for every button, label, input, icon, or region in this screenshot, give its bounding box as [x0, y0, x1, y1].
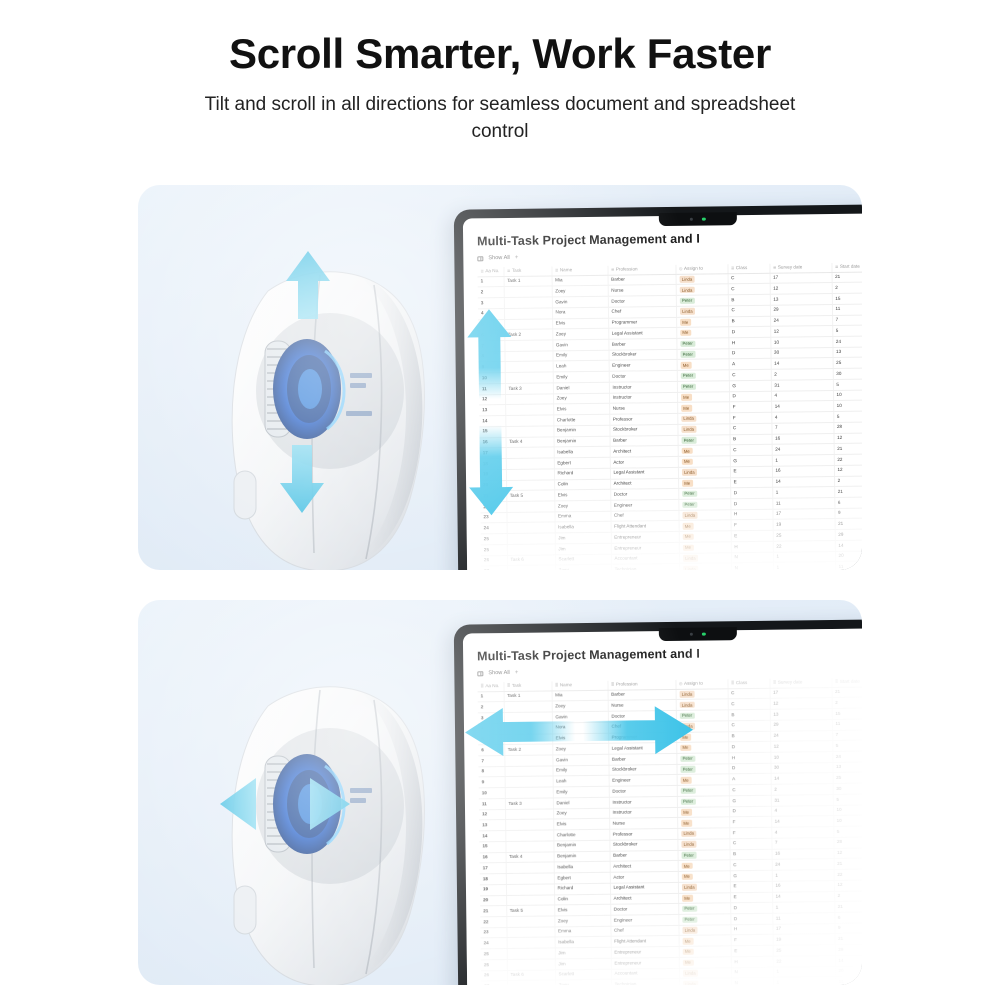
cell-profession[interactable]: Accountant: [611, 553, 679, 565]
cell-name[interactable]: Isabella: [555, 937, 611, 948]
cell-survey[interactable]: 30: [770, 762, 832, 773]
cell-survey[interactable]: 11: [772, 913, 834, 924]
cell-name[interactable]: Zoey: [553, 808, 609, 819]
cell-name[interactable]: Zoey: [552, 286, 608, 297]
cell-start[interactable]: 30: [833, 783, 862, 794]
cell-assign[interactable]: Peter: [676, 764, 728, 775]
cell-no[interactable]: 10: [479, 373, 505, 384]
cell-task[interactable]: [504, 766, 552, 777]
cell-no[interactable]: 23: [480, 927, 506, 938]
cell-profession[interactable]: Doctor: [609, 786, 677, 798]
cell-name[interactable]: Jim: [555, 947, 611, 958]
cell-no[interactable]: 3: [478, 713, 504, 724]
cell-assign[interactable]: Linda: [679, 967, 731, 978]
cell-name[interactable]: Emily: [553, 371, 609, 382]
cell-class[interactable]: B: [728, 294, 770, 305]
cell-class[interactable]: D: [729, 806, 771, 817]
cell-class[interactable]: N: [731, 552, 773, 563]
cell-task[interactable]: Task 6: [507, 555, 555, 566]
cell-task[interactable]: [505, 809, 553, 820]
cell-task[interactable]: [507, 948, 555, 959]
cell-survey[interactable]: 11: [772, 498, 834, 509]
cell-profession[interactable]: Entrepreneur: [611, 947, 679, 959]
cell-class[interactable]: B: [728, 709, 770, 720]
cell-name[interactable]: Elvis: [553, 404, 609, 415]
cell-start[interactable]: 22: [834, 454, 862, 465]
cell-survey[interactable]: 1: [772, 870, 834, 881]
cell-task[interactable]: [505, 426, 553, 437]
cell-survey[interactable]: 4: [771, 827, 833, 838]
cell-profession[interactable]: Architect: [610, 478, 678, 490]
cell-class[interactable]: C: [728, 699, 770, 710]
cell-survey[interactable]: 1: [772, 902, 834, 913]
cell-no[interactable]: 23: [480, 512, 506, 523]
view-label[interactable]: Show All: [488, 255, 510, 261]
cell-name[interactable]: Gavin: [552, 339, 608, 350]
cell-no[interactable]: 6: [478, 330, 504, 341]
cell-class[interactable]: C: [730, 860, 772, 871]
cell-no[interactable]: 8: [478, 766, 504, 777]
cell-no[interactable]: 6: [478, 745, 504, 756]
cell-profession[interactable]: Entrepreneur: [611, 542, 679, 554]
cell-profession[interactable]: Architect: [610, 893, 678, 905]
cell-class[interactable]: F: [731, 520, 773, 531]
cell-assign[interactable]: Linda: [677, 413, 729, 424]
cell-profession[interactable]: Chef: [608, 306, 676, 318]
column-header-aa-no[interactable]: ≣Aa No.: [477, 682, 503, 691]
cell-class[interactable]: E: [730, 466, 772, 477]
cell-profession[interactable]: Entrepreneur: [611, 532, 679, 544]
cell-start[interactable]: 21: [834, 486, 862, 497]
cell-class[interactable]: E: [730, 477, 772, 488]
cell-survey[interactable]: 16: [772, 848, 834, 859]
cell-class[interactable]: C: [729, 784, 771, 795]
cell-assign[interactable]: Me: [676, 742, 728, 753]
cell-profession[interactable]: Technician: [611, 979, 679, 985]
cell-name[interactable]: Nora: [552, 722, 608, 733]
cell-name[interactable]: Benjamin: [553, 425, 609, 436]
cell-name[interactable]: Zoey: [554, 500, 610, 511]
cell-task[interactable]: [507, 533, 555, 544]
cell-start[interactable]: 20: [835, 965, 862, 976]
cell-class[interactable]: N: [731, 563, 773, 570]
cell-start[interactable]: 7: [832, 314, 862, 325]
cell-survey[interactable]: 1: [773, 551, 835, 562]
cell-class[interactable]: B: [728, 731, 770, 742]
cell-assign[interactable]: Peter: [676, 338, 728, 349]
cell-no[interactable]: 25: [481, 959, 507, 970]
cell-start[interactable]: 25: [833, 772, 862, 783]
cell-no[interactable]: 17: [480, 863, 506, 874]
cell-assign[interactable]: Me: [679, 957, 731, 968]
cell-profession[interactable]: Legal Assistant: [610, 467, 678, 479]
cell-profession[interactable]: Instructor: [609, 796, 677, 808]
cell-no[interactable]: 14: [479, 416, 505, 427]
cell-assign[interactable]: Peter: [677, 796, 729, 807]
cell-assign[interactable]: Me: [678, 445, 730, 456]
cell-profession[interactable]: Nurse: [608, 285, 676, 297]
cell-profession[interactable]: Nurse: [609, 403, 677, 415]
view-label[interactable]: Show All: [488, 670, 510, 676]
cell-profession[interactable]: Architect: [610, 446, 678, 458]
cell-class[interactable]: B: [730, 849, 772, 860]
cell-start[interactable]: 12: [834, 432, 862, 443]
cell-profession[interactable]: Stockbroker: [608, 764, 676, 776]
cell-start[interactable]: 24: [832, 336, 862, 347]
cell-assign[interactable]: Me: [678, 860, 730, 871]
cell-assign[interactable]: Linda: [679, 552, 731, 563]
cell-no[interactable]: 19: [480, 884, 506, 895]
cell-task[interactable]: Task 6: [507, 970, 555, 981]
cell-class[interactable]: F: [729, 402, 771, 413]
cell-assign[interactable]: Linda: [676, 721, 728, 732]
cell-assign[interactable]: Me: [679, 935, 731, 946]
cell-survey[interactable]: 2: [771, 784, 833, 795]
cell-task[interactable]: [507, 959, 555, 970]
cell-task[interactable]: [504, 723, 552, 734]
cell-start[interactable]: 10: [833, 400, 862, 411]
cell-survey[interactable]: 25: [773, 530, 835, 541]
cell-task[interactable]: [507, 980, 555, 985]
cell-name[interactable]: Scarlett: [555, 554, 611, 565]
plus-icon[interactable]: +: [515, 670, 519, 676]
cell-no[interactable]: 25: [481, 949, 507, 960]
cell-start[interactable]: 2: [832, 282, 862, 293]
cell-profession[interactable]: Flight Attendant: [611, 521, 679, 533]
cell-no[interactable]: 15: [479, 426, 505, 437]
cell-start[interactable]: 28: [833, 422, 862, 433]
cell-no[interactable]: 22: [480, 917, 506, 928]
cell-no[interactable]: 17: [480, 448, 506, 459]
cell-profession[interactable]: Instructor: [609, 392, 677, 404]
cell-no[interactable]: 22: [480, 502, 506, 513]
cell-start[interactable]: 5: [832, 325, 862, 336]
cell-name[interactable]: Colin: [554, 479, 610, 490]
spreadsheet-scroll-bottom[interactable]: ≣Aa No.≣Task≣Name≣Profession◎Assign to≣C…: [477, 677, 862, 985]
cell-profession[interactable]: Technician: [611, 564, 679, 570]
cell-no[interactable]: 3: [478, 298, 504, 309]
cell-no[interactable]: 19: [480, 469, 506, 480]
cell-name[interactable]: Elvis: [552, 318, 608, 329]
cell-assign[interactable]: Peter: [678, 914, 730, 925]
cell-task[interactable]: [506, 458, 554, 469]
cell-survey[interactable]: 2: [771, 369, 833, 380]
cell-start[interactable]: 5: [832, 740, 862, 751]
cell-survey[interactable]: 7: [771, 422, 833, 433]
cell-task[interactable]: [504, 318, 552, 329]
cell-start[interactable]: 29: [835, 944, 862, 955]
cell-assign[interactable]: Linda: [678, 467, 730, 478]
cell-task[interactable]: [504, 308, 552, 319]
cell-name[interactable]: Zoey: [552, 701, 608, 712]
cell-class[interactable]: F: [729, 412, 771, 423]
cell-start[interactable]: 6: [834, 497, 862, 508]
cell-assign[interactable]: Me: [676, 731, 728, 742]
cell-survey[interactable]: 17: [770, 687, 832, 698]
cell-profession[interactable]: Chef: [610, 510, 678, 522]
cell-no[interactable]: 21: [480, 491, 506, 502]
cell-start[interactable]: 14: [835, 540, 862, 551]
cell-start[interactable]: 6: [834, 912, 862, 923]
cell-assign[interactable]: Peter: [677, 370, 729, 381]
cell-assign[interactable]: Linda: [676, 688, 728, 699]
cell-assign[interactable]: Me: [677, 391, 729, 402]
cell-class[interactable]: D: [728, 327, 770, 338]
cell-profession[interactable]: Legal Assistant: [610, 882, 678, 894]
cell-survey[interactable]: 17: [772, 923, 834, 934]
cell-start[interactable]: 10: [833, 804, 862, 815]
cell-assign[interactable]: Peter: [676, 349, 728, 360]
cell-class[interactable]: D: [730, 498, 772, 509]
cell-name[interactable]: Scarlett: [555, 969, 611, 980]
cell-class[interactable]: E: [730, 892, 772, 903]
cell-class[interactable]: D: [730, 913, 772, 924]
cell-survey[interactable]: 30: [770, 347, 832, 358]
cell-class[interactable]: B: [730, 434, 772, 445]
cell-no[interactable]: 10: [479, 788, 505, 799]
cell-no[interactable]: 1: [478, 276, 504, 287]
cell-survey[interactable]: 4: [771, 805, 833, 816]
cell-start[interactable]: 10: [833, 815, 862, 826]
cell-class[interactable]: D: [728, 348, 770, 359]
cell-survey[interactable]: 4: [771, 412, 833, 423]
cell-task[interactable]: [505, 819, 553, 830]
cell-no[interactable]: 24: [481, 523, 507, 534]
cell-survey[interactable]: 22: [773, 955, 835, 966]
cell-start[interactable]: 11: [835, 976, 862, 985]
cell-profession[interactable]: Doctor: [608, 710, 676, 722]
cell-survey[interactable]: 19: [773, 519, 835, 530]
cell-name[interactable]: Isabella: [555, 522, 611, 533]
cell-no[interactable]: 25: [481, 534, 507, 545]
cell-name[interactable]: Mia: [552, 690, 608, 701]
cell-no[interactable]: 20: [480, 480, 506, 491]
cell-assign[interactable]: Me: [677, 359, 729, 370]
cell-survey[interactable]: 16: [772, 880, 834, 891]
cell-class[interactable]: E: [731, 530, 773, 541]
cell-task[interactable]: Task 5: [506, 490, 554, 501]
cell-assign[interactable]: Me: [679, 946, 731, 957]
cell-survey[interactable]: 7: [771, 837, 833, 848]
cell-task[interactable]: [505, 394, 553, 405]
cell-survey[interactable]: 1: [772, 487, 834, 498]
cell-name[interactable]: Egbert: [554, 872, 610, 883]
cell-survey[interactable]: 14: [771, 816, 833, 827]
cell-task[interactable]: [504, 733, 552, 744]
cell-profession[interactable]: Barber: [608, 689, 676, 701]
cell-profession[interactable]: Actor: [610, 457, 678, 469]
cell-assign[interactable]: Peter: [676, 710, 728, 721]
cell-task[interactable]: [506, 873, 554, 884]
cell-task[interactable]: [506, 916, 554, 927]
cell-name[interactable]: Emily: [553, 786, 609, 797]
cell-profession[interactable]: Engineer: [609, 360, 677, 372]
cell-profession[interactable]: Chef: [610, 925, 678, 937]
cell-survey[interactable]: 16: [772, 465, 834, 476]
cell-name[interactable]: Charlotte: [553, 829, 609, 840]
cell-assign[interactable]: Peter: [678, 499, 730, 510]
cell-name[interactable]: Daniel: [553, 797, 609, 808]
cell-profession[interactable]: Doctor: [610, 489, 678, 501]
cell-name[interactable]: Jim: [555, 532, 611, 543]
spreadsheet-scroll-top[interactable]: ≣Aa No.≣Task≣Name≣Profession◎Assign to≣C…: [477, 262, 862, 570]
cell-name[interactable]: Elvis: [553, 819, 609, 830]
cell-assign[interactable]: Linda: [679, 563, 731, 570]
cell-assign[interactable]: Linda: [677, 839, 729, 850]
cell-start[interactable]: 5: [833, 411, 862, 422]
cell-no[interactable]: 15: [479, 841, 505, 852]
cell-no[interactable]: 16: [480, 852, 506, 863]
cell-task[interactable]: [506, 927, 554, 938]
cell-no[interactable]: 2: [478, 702, 504, 713]
cell-task[interactable]: Task 3: [505, 798, 553, 809]
cell-survey[interactable]: 12: [770, 698, 832, 709]
cell-name[interactable]: Zoey: [552, 329, 608, 340]
cell-no[interactable]: 12: [479, 809, 505, 820]
cell-name[interactable]: Egbert: [554, 457, 610, 468]
cell-name[interactable]: Emma: [554, 926, 610, 937]
cell-profession[interactable]: Barber: [608, 753, 676, 765]
cell-start[interactable]: 29: [835, 529, 862, 540]
cell-profession[interactable]: Instructor: [609, 807, 677, 819]
cell-task[interactable]: [505, 841, 553, 852]
cell-task[interactable]: [506, 469, 554, 480]
cell-assign[interactable]: Me: [678, 892, 730, 903]
cell-class[interactable]: D: [729, 391, 771, 402]
cell-task[interactable]: [505, 776, 553, 787]
cell-name[interactable]: Zoey: [555, 980, 611, 985]
cell-name[interactable]: Zoey: [554, 915, 610, 926]
cell-profession[interactable]: Legal Assistant: [608, 328, 676, 340]
cell-name[interactable]: Zoey: [552, 744, 608, 755]
cell-no[interactable]: 8: [478, 351, 504, 362]
cell-start[interactable]: 13: [832, 347, 862, 358]
cell-task[interactable]: [504, 701, 552, 712]
cell-assign[interactable]: Linda: [677, 424, 729, 435]
cell-survey[interactable]: 12: [770, 283, 832, 294]
cell-start[interactable]: 11: [832, 719, 862, 730]
cell-task[interactable]: [504, 286, 552, 297]
cell-survey[interactable]: 24: [772, 859, 834, 870]
cell-name[interactable]: Richard: [554, 883, 610, 894]
cell-no[interactable]: 13: [479, 820, 505, 831]
cell-task[interactable]: Task 4: [506, 852, 554, 863]
cell-profession[interactable]: Actor: [610, 872, 678, 884]
cell-class[interactable]: B: [728, 316, 770, 327]
cell-assign[interactable]: Me: [679, 531, 731, 542]
cell-name[interactable]: Leah: [553, 361, 609, 372]
cell-name[interactable]: Nora: [552, 307, 608, 318]
cell-profession[interactable]: Barber: [610, 850, 678, 862]
cell-survey[interactable]: 13: [770, 709, 832, 720]
cell-name[interactable]: Colin: [554, 894, 610, 905]
cell-start[interactable]: 10: [833, 389, 862, 400]
cell-survey[interactable]: 1: [772, 455, 834, 466]
cell-task[interactable]: [506, 862, 554, 873]
cell-survey[interactable]: 4: [771, 390, 833, 401]
cell-survey[interactable]: 14: [771, 773, 833, 784]
cell-profession[interactable]: Architect: [610, 861, 678, 873]
cell-class[interactable]: H: [731, 541, 773, 552]
cell-profession[interactable]: Stockbroker: [609, 839, 677, 851]
cell-profession[interactable]: Barber: [608, 274, 676, 286]
cell-assign[interactable]: Linda: [676, 306, 728, 317]
cell-start[interactable]: 12: [834, 847, 862, 858]
cell-profession[interactable]: Entrepreneur: [611, 957, 679, 969]
cell-no[interactable]: 24: [481, 938, 507, 949]
cell-task[interactable]: [507, 522, 555, 533]
cell-no[interactable]: 27: [481, 981, 507, 985]
cell-class[interactable]: G: [730, 455, 772, 466]
cell-class[interactable]: A: [729, 774, 771, 785]
cell-assign[interactable]: Linda: [677, 828, 729, 839]
cell-task[interactable]: Task 2: [504, 744, 552, 755]
cell-start[interactable]: 20: [835, 550, 862, 561]
cell-survey[interactable]: 29: [770, 304, 832, 315]
cell-survey[interactable]: 14: [771, 401, 833, 412]
cell-assign[interactable]: Peter: [677, 381, 729, 392]
cell-name[interactable]: Benjamin: [553, 840, 609, 851]
cell-start[interactable]: 15: [832, 293, 862, 304]
cell-start[interactable]: 5: [833, 794, 862, 805]
cell-assign[interactable]: Linda: [678, 882, 730, 893]
cell-name[interactable]: Mia: [552, 275, 608, 286]
cell-assign[interactable]: Linda: [679, 978, 731, 985]
cell-task[interactable]: [507, 565, 555, 570]
cell-name[interactable]: Richard: [554, 468, 610, 479]
cell-class[interactable]: E: [731, 945, 773, 956]
cell-assign[interactable]: Linda: [676, 284, 728, 295]
cell-profession[interactable]: Barber: [610, 435, 678, 447]
cell-task[interactable]: [505, 415, 553, 426]
cell-task[interactable]: Task 1: [504, 276, 552, 287]
cell-no[interactable]: 26: [481, 970, 507, 981]
cell-start[interactable]: 2: [834, 890, 862, 901]
cell-task[interactable]: [507, 937, 555, 948]
cell-no[interactable]: 9: [479, 362, 505, 373]
cell-survey[interactable]: 25: [773, 945, 835, 956]
cell-assign[interactable]: Me: [677, 402, 729, 413]
cell-profession[interactable]: Engineer: [610, 499, 678, 511]
cell-name[interactable]: Zoey: [555, 565, 611, 570]
cell-start[interactable]: 11: [832, 304, 862, 315]
cell-start[interactable]: 9: [834, 508, 862, 519]
cell-start[interactable]: 28: [833, 837, 862, 848]
cell-profession[interactable]: Doctor: [610, 904, 678, 916]
cell-survey[interactable]: 1: [773, 966, 835, 977]
cell-assign[interactable]: Me: [678, 477, 730, 488]
cell-start[interactable]: 30: [833, 368, 862, 379]
cell-name[interactable]: Gavin: [552, 754, 608, 765]
cell-profession[interactable]: Doctor: [609, 371, 677, 383]
cell-survey[interactable]: 10: [770, 337, 832, 348]
column-header-start-date[interactable]: ≣Start date: [831, 677, 862, 687]
cell-task[interactable]: Task 4: [506, 437, 554, 448]
cell-survey[interactable]: 12: [770, 741, 832, 752]
cell-profession[interactable]: Legal Assistant: [608, 743, 676, 755]
cell-class[interactable]: G: [729, 380, 771, 391]
cell-task[interactable]: [505, 361, 553, 372]
cell-class[interactable]: N: [731, 967, 773, 978]
cell-start[interactable]: 25: [833, 357, 862, 368]
cell-task[interactable]: [506, 894, 554, 905]
cell-class[interactable]: D: [728, 742, 770, 753]
cell-name[interactable]: Jim: [555, 958, 611, 969]
cell-survey[interactable]: 24: [770, 315, 832, 326]
cell-task[interactable]: [506, 501, 554, 512]
cell-name[interactable]: Elvis: [554, 490, 610, 501]
cell-name[interactable]: Benjamin: [554, 851, 610, 862]
